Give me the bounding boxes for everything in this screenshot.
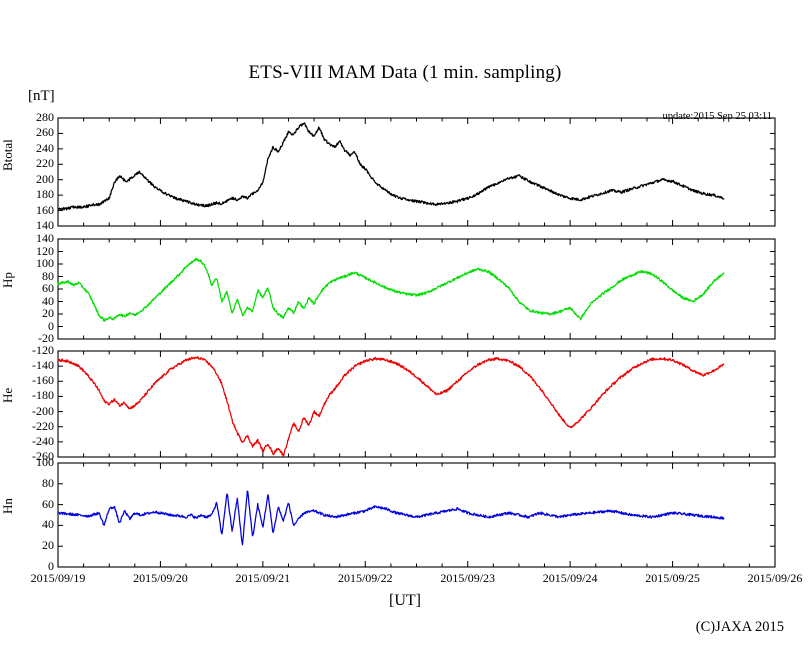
x-tick-label: 2015/09/19	[13, 571, 103, 586]
y-tick-label: 260	[10, 125, 54, 140]
y-tick-label: 80	[10, 476, 54, 491]
y-tick-label: -160	[10, 373, 54, 388]
x-tick-label: 2015/09/20	[115, 571, 205, 586]
y-tick-label: -200	[10, 404, 54, 419]
y-tick-label: 180	[10, 187, 54, 202]
x-tick-label: 2015/09/24	[525, 571, 615, 586]
y-tick-label: 40	[10, 517, 54, 532]
x-tick-label: 2015/09/22	[320, 571, 410, 586]
y-tick-label: -220	[10, 419, 54, 434]
x-axis-label: [UT]	[0, 592, 810, 610]
y-tick-label: 280	[10, 110, 54, 125]
y-tick-label: 240	[10, 141, 54, 156]
x-tick-label: 2015/09/26	[730, 571, 810, 586]
y-tick-label: -240	[10, 434, 54, 449]
y-tick-label: 60	[10, 497, 54, 512]
y-unit-label: [nT]	[28, 88, 55, 105]
plot-canvas	[0, 0, 810, 655]
y-tick-label: -140	[10, 358, 54, 373]
page-title: ETS-VIII MAM Data (1 min. sampling)	[0, 62, 810, 84]
y-tick-label: 20	[10, 538, 54, 553]
y-tick-label: 100	[10, 455, 54, 470]
mam-magnetometer-figure: ETS-VIII MAM Data (1 min. sampling) [nT]…	[0, 0, 810, 655]
x-tick-label: 2015/09/23	[423, 571, 513, 586]
copyright-notice: (C)JAXA 2015	[696, 619, 784, 636]
y-tick-label: 160	[10, 203, 54, 218]
y-tick-label: -120	[10, 343, 54, 358]
y-tick-label: -180	[10, 388, 54, 403]
y-tick-label: 200	[10, 172, 54, 187]
y-tick-label: 220	[10, 156, 54, 171]
x-tick-label: 2015/09/21	[218, 571, 308, 586]
x-tick-label: 2015/09/25	[628, 571, 718, 586]
update-timestamp: update:2015 Sep 25 03:11	[662, 111, 772, 122]
